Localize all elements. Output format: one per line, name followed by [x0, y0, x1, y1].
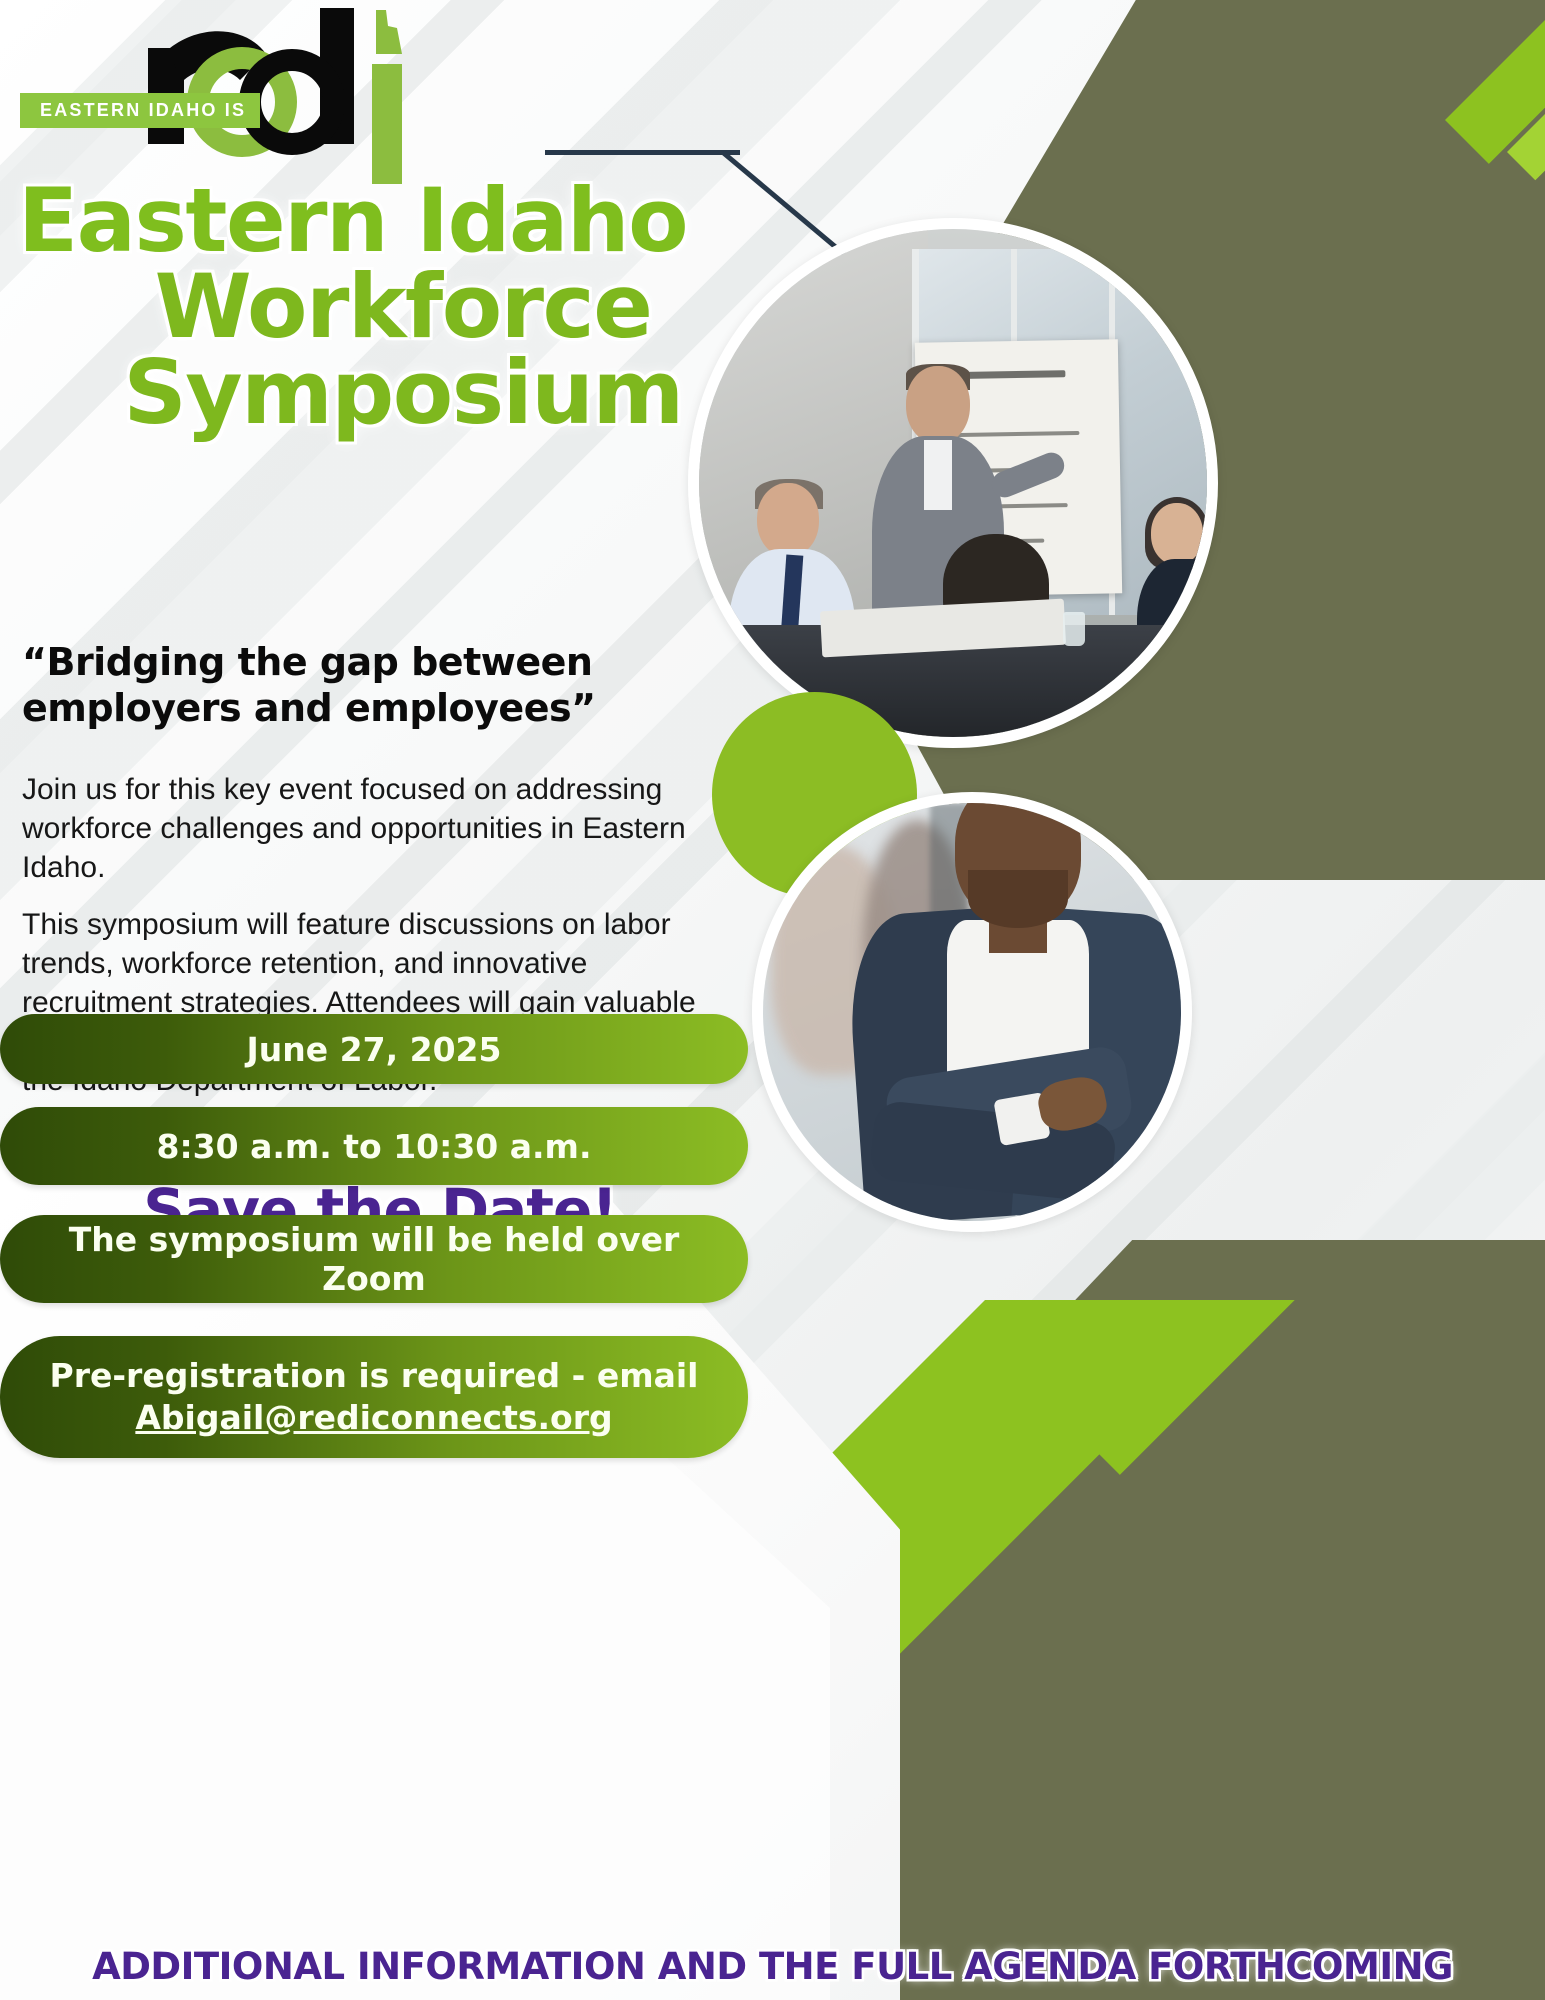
detail-pill-time-text: 8:30 a.m. to 10:30 a.m.: [131, 1127, 618, 1166]
title-line-1: Eastern Idaho: [18, 178, 788, 264]
redi-logo: EASTERN IDAHO IS: [20, 6, 440, 186]
registration-instruction: Pre-registration is required - email: [50, 1356, 699, 1395]
portrait-illustration: [763, 803, 1181, 1221]
tagline-quote: “Bridging the gap between employers and …: [22, 640, 682, 731]
detail-pill-platform: The symposium will be held over Zoom: [0, 1215, 748, 1303]
detail-pill-date-text: June 27, 2025: [221, 1030, 528, 1069]
photo-portrait: [752, 792, 1192, 1232]
registration-email-link[interactable]: Abigail@rediconnects.org: [50, 1397, 699, 1439]
presenter-arm: [988, 449, 1068, 502]
water-glass: [1063, 612, 1085, 646]
presenter-shirt: [924, 440, 952, 510]
title-line-2: Workforce: [18, 264, 788, 350]
registration-block: Pre-registration is required - email Abi…: [24, 1355, 725, 1439]
detail-pill-date: June 27, 2025: [0, 1014, 748, 1084]
bottom-green-diagonal-2: [1035, 1300, 1545, 1475]
page-title: Eastern Idaho Workforce Symposium: [18, 178, 788, 437]
presenter-head: [906, 366, 970, 444]
detail-pill-platform-text: The symposium will be held over Zoom: [0, 1220, 748, 1298]
detail-pill-time: 8:30 a.m. to 10:30 a.m.: [0, 1107, 748, 1185]
white-wedge-lower-left-2: [0, 1440, 830, 2000]
seated-head: [757, 483, 819, 557]
body-paragraph-1: Join us for this key event focused on ad…: [22, 770, 722, 887]
logo-tagline: EASTERN IDAHO IS: [20, 93, 260, 128]
detail-pill-registration: Pre-registration is required - email Abi…: [0, 1336, 748, 1458]
poster-canvas: EASTERN IDAHO IS Eastern Idaho Workforce…: [0, 0, 1545, 2000]
title-line-3: Symposium: [18, 350, 788, 436]
portrait-beard: [968, 870, 1068, 929]
navy-divider-line: [545, 150, 740, 155]
far-head: [1151, 503, 1203, 565]
footer-banner-text: ADDITIONAL INFORMATION AND THE FULL AGEN…: [0, 1945, 1545, 1988]
